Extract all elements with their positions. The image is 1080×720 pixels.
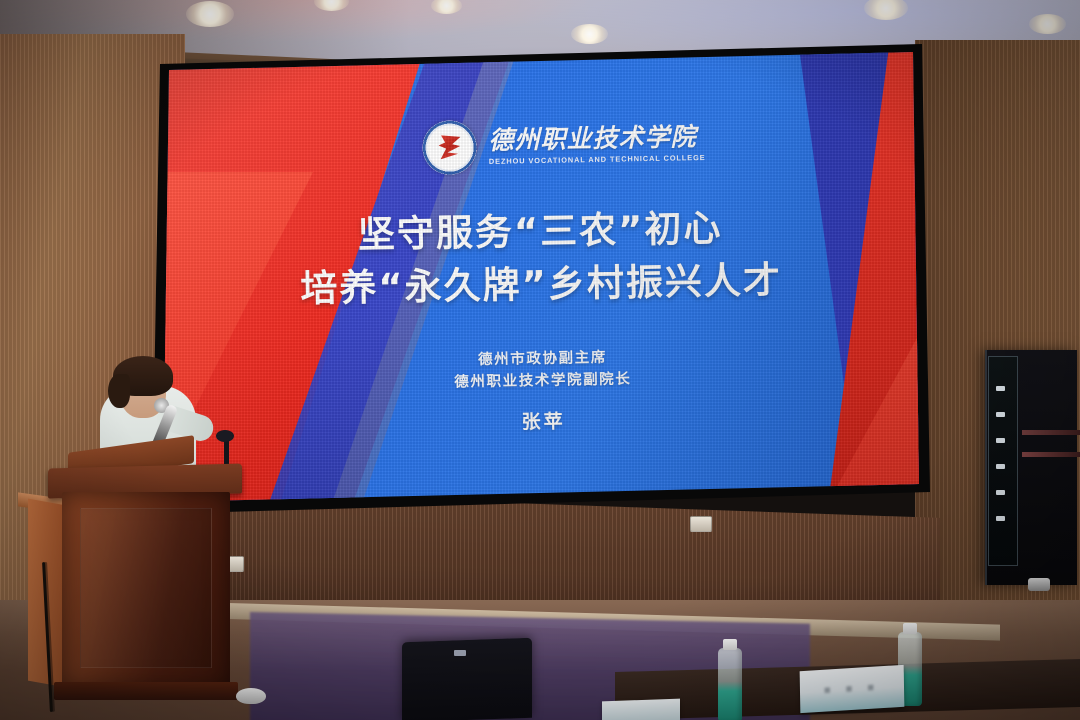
rack-led-icon [996,386,1005,391]
rack-led-icon [996,438,1005,443]
college-name-cn: 德州职业技术学院 [488,124,705,154]
conference-hall-scene: 德州职业技术学院 DEZHOU VOCATIONAL AND TECHNICAL… [0,0,1080,720]
podium-base [54,682,238,700]
rack-shelf [1022,452,1080,457]
wall-plate-icon [690,516,712,532]
speaker-hair-side [108,374,130,408]
rack-led-icon [996,516,1005,521]
rack-shelf [1022,430,1080,435]
rack-led-icon [996,412,1005,417]
slide-title-line-1: 坚守服务“三农”初心 [163,201,919,264]
college-logo: 德州职业技术学院 DEZHOU VOCATIONAL AND TECHNICAL… [422,111,703,180]
downlight-icon [1029,14,1066,34]
slide-title-line-2: 培养“永久牌”乡村振兴人才 [163,254,919,317]
podium-front-inset [80,508,212,668]
desk-microphone-icon [216,430,234,442]
monitor-indicator-icon [454,650,466,656]
rack-led-icon [996,464,1005,469]
nameplate-card: ■ ■ ■ [800,665,905,713]
nameplate-card [602,699,680,720]
college-seal-icon [422,120,477,175]
speaker-name: 张苹 [165,400,919,441]
rack-led-icon [996,490,1005,495]
downlight-icon [571,24,608,44]
nameplate-text: ■ ■ ■ [824,681,880,696]
college-name-en: DEZHOU VOCATIONAL AND TECHNICAL COLLEGE [489,153,706,166]
slide-title: 坚守服务“三农”初心 培养“永久牌”乡村振兴人才 [163,201,919,316]
podium-and-speaker [28,352,278,720]
rack-caster [1028,578,1050,591]
college-logo-text: 德州职业技术学院 DEZHOU VOCATIONAL AND TECHNICAL… [488,124,705,165]
floor-object [236,688,266,704]
water-bottle [718,648,742,720]
confidence-monitor [402,638,532,720]
